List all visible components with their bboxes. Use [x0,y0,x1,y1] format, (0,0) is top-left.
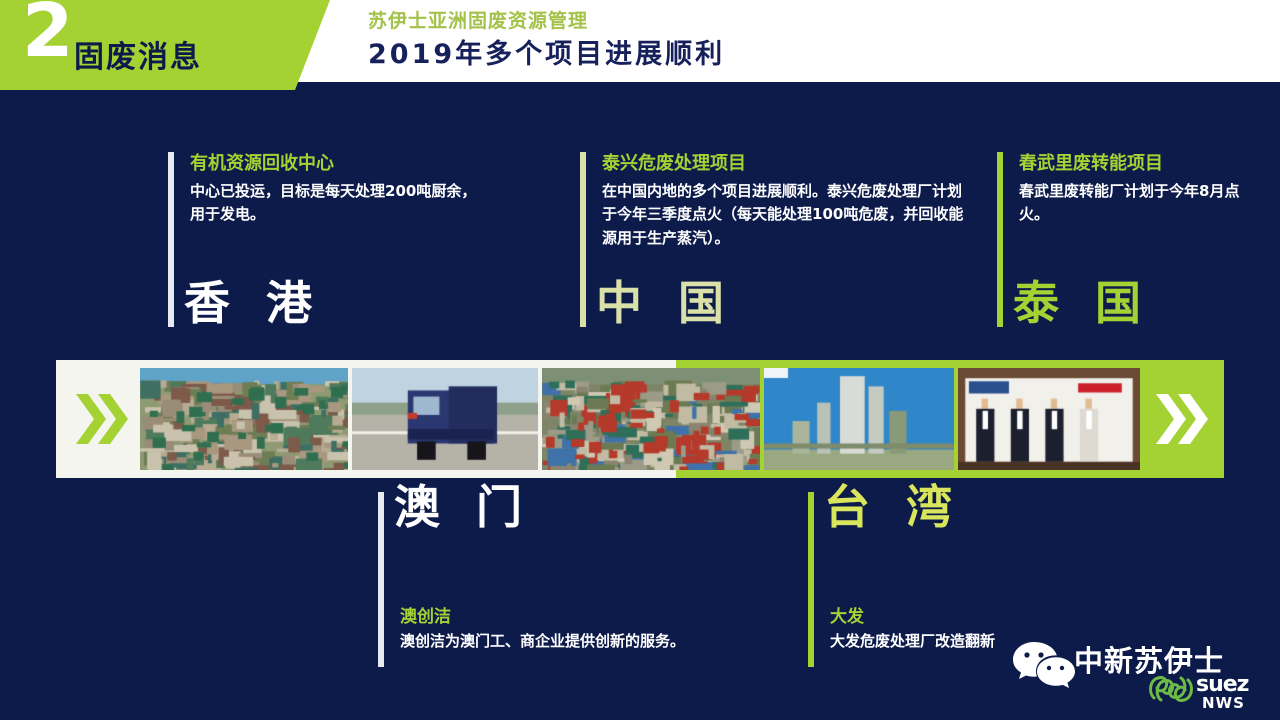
project-title: 春武里废转能项目 [1019,149,1163,175]
region-name: 澳 门 [394,484,532,530]
project-description: 春武里废转能厂计划于今年8月点火。 [1019,180,1267,227]
section-number: 2 [22,0,74,68]
region-name: 台 湾 [824,484,962,530]
double-chevron-right-icon [72,392,128,446]
slide-root: 2 固废消息 苏伊士亚洲固废资源管理 2019年多个项目进展顺利 有机资源回收中… [0,0,1280,720]
section-label: 固废消息 [74,32,202,76]
header-subtitle: 苏伊士亚洲固废资源管理 [368,6,588,33]
project-title: 澳创洁 [400,602,451,627]
watermark: 中新苏伊士 suez NWS [1002,628,1280,720]
project-description: 澳创洁为澳门工、商企业提供创新的服务。 [400,630,700,653]
region-name: 泰 国 [1013,280,1151,326]
slide-header: 2 固废消息 苏伊士亚洲固废资源管理 2019年多个项目进展顺利 [0,0,1280,82]
photo-organic-resources-recovery-centre-aerial [140,368,348,470]
photo-marubeni-signing-ceremony [958,368,1140,470]
project-title: 有机资源回收中心 [190,149,334,175]
suez-nws-logo: suez NWS [1148,672,1276,716]
accent-bar [808,492,814,667]
double-chevron-right-icon [1152,392,1208,446]
accent-bar [580,152,586,327]
photo-taixing-hazardous-waste-plant-aerial [542,368,760,470]
accent-bar [997,152,1003,327]
project-description: 中心已投运，目标是每天处理200吨厨余，用于发电。 [190,180,490,227]
region-name: 中 国 [596,280,734,326]
project-title: 泰兴危废处理项目 [602,149,746,175]
photo-strip [56,360,1224,478]
nws-wordmark: NWS [1202,694,1245,712]
project-description: 在中国内地的多个项目进展顺利。泰兴危废处理厂计划于今年三季度点火（每天能处理10… [602,180,964,250]
accent-bar [168,152,174,327]
photo-chonburi-waste-to-energy-plant [764,368,954,470]
project-title: 大发 [830,602,864,627]
page-title: 2019年多个项目进展顺利 [368,32,725,71]
suez-swirl-icon [1148,672,1194,706]
photo-waste-collection-truck [352,368,538,470]
accent-bar [378,492,384,667]
region-name: 香 港 [184,280,322,326]
wechat-icon [1012,640,1076,692]
